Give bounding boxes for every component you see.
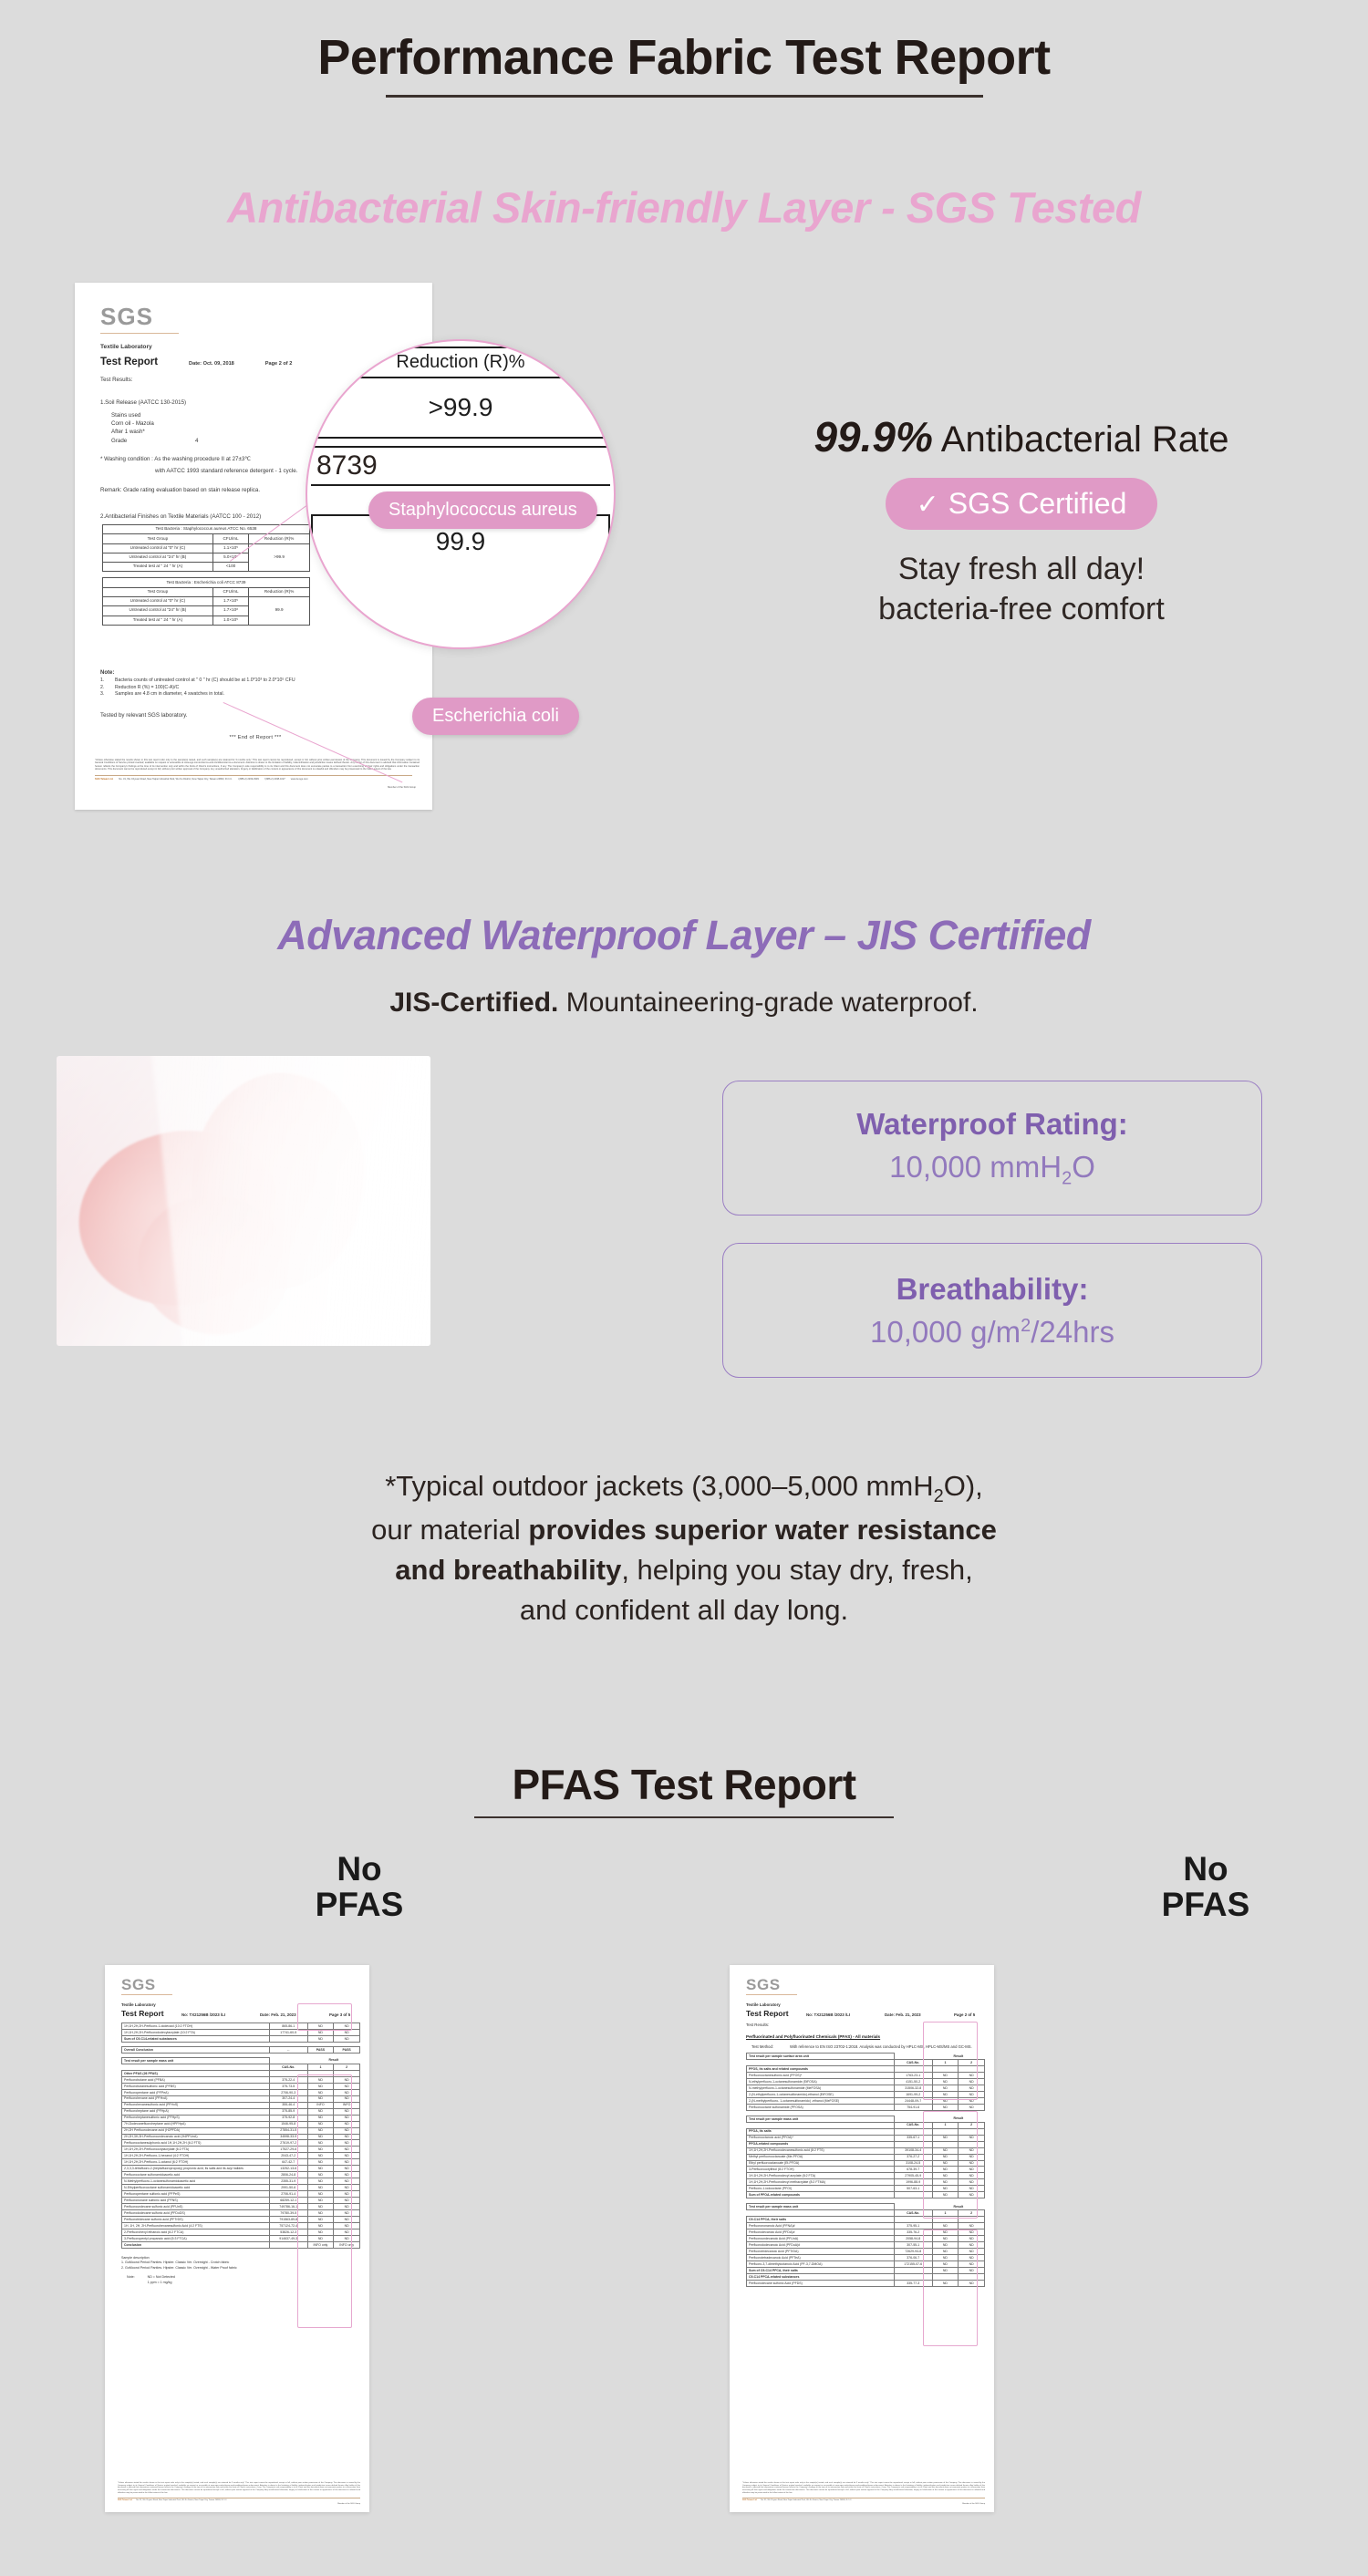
result-sample-1: ND xyxy=(307,2191,334,2198)
breathability-value-suffix: /24hrs xyxy=(1031,1315,1114,1349)
pfas-left-overall-r2: PASS xyxy=(334,2046,360,2053)
result-sample-1: ND xyxy=(307,2140,334,2147)
result-sample-1: ND xyxy=(307,2159,334,2166)
antibacterial-tagline-line1: Stay fresh all day! xyxy=(748,550,1295,590)
result-sample-1: INFO xyxy=(307,2102,334,2108)
pfas-right-group5-label: C9-C14 PFCA-related substances xyxy=(747,2273,895,2280)
sgs-certified-badge: ✓SGS Certified xyxy=(886,478,1158,530)
waterproof-subheading-bold: JIS-Certified. xyxy=(389,988,558,1018)
result-sample-2: ND xyxy=(959,2160,985,2167)
cas-number: 2043-47-2 xyxy=(269,2153,307,2159)
waterproof-note-line1-b: O), xyxy=(944,1470,983,1502)
table-row: Perfluorononanoic Acid (PFNA)#375-95-1ND… xyxy=(747,2223,985,2229)
pfas-left-lab: Textile Laboratory xyxy=(121,2002,357,2007)
table-row: 2H,2H,3H,3H-Perfluoroundecanoic acid (H4… xyxy=(122,2134,360,2140)
table-row: Perfluorodecane sulfonic Acid (PFDS)335-… xyxy=(747,2280,985,2286)
result-sample-1: ND xyxy=(307,2236,334,2242)
cas-number: 17741-60-5 xyxy=(269,2029,307,2035)
substance-name: Perfluoro-3,7-dimethyloctanoic Acid (PF-… xyxy=(747,2261,895,2268)
pfas-left-main-table: Test result per sample mass unit Result … xyxy=(121,2057,360,2249)
result-sample-2: ND xyxy=(334,2204,360,2210)
cas-number: 27905-45-9 xyxy=(894,2173,932,2179)
cas-number: 39108-34-4 xyxy=(894,2147,932,2154)
pfas-right-fine-print: "Unless otherwise stated the results sho… xyxy=(742,2482,985,2495)
cas-number: 3108-24-5 xyxy=(894,2160,932,2167)
result-sample-1: ND xyxy=(932,2154,959,2160)
table-row: Perfluoro-1-iodooctane (PFOI)507-63-1NDN… xyxy=(747,2186,985,2192)
pfas-left-sample-block: Sample description 1. GoMoond Period Pan… xyxy=(121,2256,360,2285)
pfas-heading-underline xyxy=(474,1816,894,1818)
result-sample-1: ND xyxy=(307,2172,334,2178)
result-sample-2: ND xyxy=(959,2135,985,2141)
cas-number: 375-73-5 xyxy=(269,2083,307,2089)
substance-name: Perfluorohexanesulfonic acid (PFHxS) xyxy=(122,2102,270,2108)
substance-name: Perfluoroundecanoic Acid (PFUnA) xyxy=(747,2236,895,2242)
table-row: N-methylperfluoro-1-octanesulfonamide (M… xyxy=(747,2085,985,2091)
result-sample-2: ND xyxy=(959,2072,985,2078)
pfas-left-footer-rule xyxy=(118,2498,360,2498)
result-sample-2: ND xyxy=(334,2035,360,2042)
result-sample-1: ND xyxy=(932,2147,959,2154)
cas-number: 791563-89-8 xyxy=(269,2217,307,2223)
cas-number: 307-24-4 xyxy=(269,2095,307,2102)
pfas-right-results-label: Test Results: xyxy=(746,2023,981,2027)
substance-name: N-Methylperfluoro-1-octanesulfonamidoace… xyxy=(122,2178,270,2185)
certificate-note-text: Reduction R (%) = 100(C-A)/C xyxy=(115,685,179,692)
substance-name: 1H,1H,2H,2H-Perfluoro-1-dodecaol (10:2 F… xyxy=(122,2023,270,2030)
ecoli-table-caption: Test Bacteria : Escherichia coli ATCC 87… xyxy=(103,578,310,587)
result-sample-2: ND xyxy=(959,2186,985,2192)
certificate-footer: SGS Taiwan Ltd. No. 31, Wu Chyuan Road, … xyxy=(75,778,432,781)
pfas-right-logo: SGS xyxy=(730,1965,994,1994)
cas-number: 749786-16-1 xyxy=(269,2204,307,2210)
pill-escherichia-coli: Escherichia coli xyxy=(412,698,579,735)
table-row: 1H,1H,2H,2H-Perfluoro-1-octanol (6:2 FTO… xyxy=(122,2159,360,2166)
substance-name: 1H,1H,2H,2H-Perfluorodecyl acrylate (8:2… xyxy=(747,2173,895,2179)
result-sample-2: ND xyxy=(959,2229,985,2236)
cas-number: 68259-12-1 xyxy=(269,2198,307,2204)
result-sample-2: ND xyxy=(959,2154,985,2160)
result-sample-2: ND xyxy=(959,2261,985,2268)
cas-number: 335-77-3 xyxy=(894,2280,932,2286)
result-sample-1: ND xyxy=(932,2135,959,2141)
cas-number: 507-63-1 xyxy=(894,2186,932,2192)
waterproof-section-heading: Advanced Waterproof Layer – JIS Certifie… xyxy=(0,912,1368,959)
result-sample-2: ND xyxy=(959,2078,985,2085)
result-sample-1: ND xyxy=(932,2268,959,2274)
waterproof-note-line2: our material provides superior water res… xyxy=(137,1510,1231,1550)
pfas-left-overall-r1: PASS xyxy=(307,2046,334,2053)
substance-name: Perfluoroundecane sulfonic acid (PFUnS) xyxy=(122,2204,270,2210)
pfas-right-mass-label-2: Test result per sample mass unit xyxy=(747,2204,895,2210)
result-sample-1: ND xyxy=(307,2023,334,2030)
substance-name: Sum of PFOA-related compounds xyxy=(747,2192,895,2198)
result-sample-2: ND xyxy=(959,2242,985,2249)
cas-number: 53826-12-3 xyxy=(269,2229,307,2236)
pfas-right-c9c14-table: Test result per sample mass unit Result … xyxy=(746,2203,985,2287)
certificate-page: Page 2 of 2 xyxy=(265,360,293,367)
result-sample-2: ND xyxy=(334,2121,360,2127)
substance-name: Perfluorotridecane sulfonic acid (PFTrDS… xyxy=(122,2217,270,2223)
staph-results-table: Test Bacteria : Staphylococcus aureus AT… xyxy=(102,524,310,572)
substance-name: 1H,1H,2H,2H-Perfluoro-1-hexanol (4:2 FTO… xyxy=(122,2153,270,2159)
substance-name: Perfluorotetradecanoic Acid (PFTeA) xyxy=(747,2255,895,2261)
substance-name: 2,3,3,3-tetrafluoro-2-(heptafluoropropox… xyxy=(122,2166,270,2172)
antibacterial-tagline-line2: bacteria-free comfort xyxy=(748,590,1295,630)
staph-header-1: CFU/mL xyxy=(212,534,248,543)
table-row: 2-(N-ethylperfluoro-1-octanesulfonamido)… xyxy=(747,2091,985,2097)
page-title-wrap: Performance Fabric Test Report xyxy=(0,29,1368,98)
pfas-left-top-table: 1H,1H,2H,2H-Perfluoro-1-dodecaol (10:2 F… xyxy=(121,2023,360,2043)
result-sample-2: ND xyxy=(334,2147,360,2153)
pfas-left-other-pfas-label: Other PFAS (26 PFAS) xyxy=(122,2070,270,2076)
pfas-right-col1-a: 1 xyxy=(932,2059,959,2065)
table-row: 1H,1H,2H,2H-Perfluorodecanesulfonic acid… xyxy=(747,2147,985,2154)
pfas-left-note-label: Note: xyxy=(127,2275,135,2285)
waterproof-note-line2-bold: provides superior water resistance xyxy=(528,1514,996,1546)
waterproof-demo-photo xyxy=(57,1056,430,1346)
table-row: 1H,1H,2H,2H-Perfluoro-1-dodecaol (10:2 F… xyxy=(122,2023,360,2030)
result-sample-1: ND xyxy=(307,2147,334,2153)
pfas-left-col2: 2 xyxy=(334,2064,360,2070)
cas-number: 914637-49-3 xyxy=(269,2236,307,2242)
substance-name: 2H,2H,3H,3H-Perfluoroundecanoic acid (H4… xyxy=(122,2134,270,2140)
result-sample-2: ND xyxy=(334,2083,360,2089)
pfas-report-right: SGS Textile Laboratory Test Report No: T… xyxy=(730,1965,994,2512)
table-row: Perfluorooctanoic acid (PFOA)*335-67-1ND… xyxy=(747,2135,985,2141)
result-sample-1: ND xyxy=(932,2186,959,2192)
pfas-left-mass-unit-label: Test result per sample mass unit xyxy=(122,2057,270,2064)
substance-name: 1H,1H,2H,2H-Perfluorodecanesulfonic acid… xyxy=(747,2147,895,2154)
result-sample-1: ND xyxy=(307,2035,334,2042)
cas-number xyxy=(894,2268,932,2274)
breathability-value: 10,000 g/m2/24hrs xyxy=(723,1315,1261,1350)
result-sample-2: ND xyxy=(334,2140,360,2147)
result-sample-2: ND xyxy=(334,2217,360,2223)
pfas-right-page: Page 2 of 5 xyxy=(954,2012,975,2017)
result-sample-2: ND xyxy=(334,2089,360,2095)
waterproof-note-line3: and breathability, helping you stay dry,… xyxy=(137,1550,1231,1590)
pfas-right-mass-label: Test result per sample mass unit xyxy=(747,2116,895,2122)
table-row: N-Ethylperfluorooctane sulfonamidoacetic… xyxy=(122,2185,360,2191)
check-icon: ✓ xyxy=(917,490,939,520)
cas-number: 79780-39-5 xyxy=(269,2210,307,2217)
cas-number: 2355-31-9 xyxy=(269,2178,307,2185)
ecoli-row0-name: Untreated control at "0" hr (C) xyxy=(103,596,213,605)
result-sample-1: ND xyxy=(307,2198,334,2204)
ecoli-header-2: Reduction (R)% xyxy=(249,587,310,596)
table-row: 1H,1H,2H,2H-Perfluorodecyl acrylate (8:2… xyxy=(747,2173,985,2179)
breathability-card: Breathability: 10,000 g/m2/24hrs xyxy=(722,1243,1262,1378)
cas-number: 376-06-7 xyxy=(894,2255,932,2261)
pfas-right-mass-table: Test result per sample mass unit Result … xyxy=(746,2116,985,2199)
table-row: Perfluorooctane sulfonamidoacetic acid28… xyxy=(122,2172,360,2178)
pfas-right-result-label-2: Result xyxy=(932,2116,984,2122)
certificate-footer-member: Member of the SGS Group xyxy=(75,786,432,789)
waterproof-film-sheet xyxy=(151,1056,430,1346)
substance-name: 2-(N-methylperfluoro- 1-octanesulfonamid… xyxy=(747,2097,895,2104)
result-sample-2: ND xyxy=(959,2085,985,2091)
result-sample-2: ND xyxy=(334,2153,360,2159)
result-sample-2: ND xyxy=(334,2198,360,2204)
pfas-right-title: Perfluorinated and Polyfluorinated Chemi… xyxy=(746,2034,981,2039)
cas-number: 376-27-2 xyxy=(894,2154,932,2160)
antibacterial-rate-number: 99.9% xyxy=(814,413,932,460)
no-pfas-right-line2: PFAS xyxy=(1151,1887,1260,1922)
pfas-right-result-label-3: Result xyxy=(932,2204,984,2210)
pfas-right-footer-member: Member of the SGS Group xyxy=(742,2503,985,2505)
result-sample-2: ND xyxy=(334,2178,360,2185)
ecoli-row0-cfu: 1.7×10⁵ xyxy=(212,596,248,605)
table-row: Perfluoroundecanoic Acid (PFUnA)2058-94-… xyxy=(747,2236,985,2242)
cas-number: 678-39-7 xyxy=(894,2167,932,2173)
breathability-value-prefix: 10,000 g/m xyxy=(870,1315,1021,1349)
ecoli-row1-name: Untreated control at "24" hr (B) xyxy=(103,606,213,616)
result-sample-2: ND xyxy=(959,2167,985,2173)
table-row: 1H,1H,2H,2H-Perfluorooctylacrylate (6:2 … xyxy=(122,2147,360,2153)
table-row: 3-Perfluorooctylthiol (8:2 FTOH)678-39-7… xyxy=(747,2167,985,2173)
waterproof-note: *Typical outdoor jackets (3,000–5,000 mm… xyxy=(137,1466,1231,1630)
pfas-left-page: Page 3 of 5 xyxy=(329,2012,350,2017)
result-sample-2: ND xyxy=(959,2179,985,2186)
result-sample-2: ND xyxy=(959,2268,985,2274)
result-sample-1: ND xyxy=(932,2179,959,2186)
cas-number: 754-91-6 xyxy=(894,2104,932,2110)
antibacterial-section-heading: Antibacterial Skin-friendly Layer - SGS … xyxy=(0,182,1368,233)
result-sample-2: ND xyxy=(334,2076,360,2083)
result-sample-2: ND xyxy=(334,2134,360,2140)
pfas-heading-wrap: PFAS Test Report xyxy=(0,1760,1368,1818)
pfas-right-col2-c: 2 xyxy=(959,2210,985,2217)
sgs-certified-label: SGS Certified xyxy=(948,487,1127,520)
table-row: Perfluorododecanoic Acid (PFDoA)#307-55-… xyxy=(747,2242,985,2249)
pill-staphylococcus-aureus: Staphylococcus aureus xyxy=(368,491,597,529)
no-pfas-badge-left: No PFAS xyxy=(305,1851,414,1922)
table-row: Sum of C9-C14-related substancesNDND xyxy=(122,2035,360,2042)
substance-name: N-methylperfluoro-1-octanesulfonamide (M… xyxy=(747,2085,895,2091)
certificate-footer-web: www.tw.sgs.com xyxy=(291,778,308,781)
substance-name: Perfluorooctane sulfonamidoacetic acid xyxy=(122,2172,270,2178)
cas-number: 1691-99-2 xyxy=(894,2091,932,2097)
table-row: Sum of C9-C14 PFCA, their saltsNDND xyxy=(747,2268,985,2274)
table-row: Perfluorooctane sulfonamide (PFOSA)754-9… xyxy=(747,2104,985,2110)
table-row: Perfluorohexanesulfonic acid (PFHxS)355-… xyxy=(122,2102,360,2108)
waterproof-note-line3-bold: and breathability xyxy=(395,1554,621,1586)
ecoli-results-table: Test Bacteria : Escherichia coli ATCC 87… xyxy=(102,577,310,625)
result-sample-2: ND xyxy=(334,2166,360,2172)
staph-row2-cfu: <100 xyxy=(212,563,248,572)
result-sample-1: ND xyxy=(932,2280,959,2286)
certificate-note-item: 1.Bacteria counts of untreated control a… xyxy=(100,678,410,685)
table-row: 2,3,3,3-tetrafluoro-2-(heptafluoropropox… xyxy=(122,2166,360,2172)
substance-name: 1H,1H,2H,2H-Perfluoro-1-octanol (6:2 FTO… xyxy=(122,2159,270,2166)
waterproof-note-line3-rest: , helping you stay dry, fresh, xyxy=(621,1554,972,1586)
substance-name: 2-(N-ethylperfluoro-1-octanesulfonamido)… xyxy=(747,2091,895,2097)
substance-name: Perfluorononane sulfonic acid (PFNS) xyxy=(122,2198,270,2204)
cas-number: 757124-72-4 xyxy=(269,2223,307,2229)
table-row: Perfluorotridecane sulfonic acid (PFTrDS… xyxy=(122,2217,360,2223)
ecoli-row2-name: Treated test at " 24 " hr (A) xyxy=(103,616,213,625)
result-sample-1: ND xyxy=(307,2076,334,2083)
pfas-report-left: SGS Textile Laboratory Test Report No: T… xyxy=(105,1965,369,2512)
result-sample-1: ND xyxy=(307,2185,334,2191)
substance-name: 3-Perfluoropentyl propanoic acid (5:3 FT… xyxy=(122,2236,270,2242)
table-row: N-Methylperfluoro-1-octanesulfonamidoace… xyxy=(122,2178,360,2185)
result-sample-1: ND xyxy=(932,2173,959,2179)
pfas-left-note-ppm: 1 ppm = 1 mg/kg xyxy=(148,2281,175,2285)
result-sample-2: ND xyxy=(959,2097,985,2104)
ecoli-row1-cfu: 1.7×10⁸ xyxy=(212,606,248,616)
table-row: N-ethylperfluoro-1-octanesulfonamide (Et… xyxy=(747,2078,985,2085)
substance-name: Ethyl perfluorooctanoate (Et-PFOA) xyxy=(747,2160,895,2167)
cas-number: 31506-32-8 xyxy=(894,2085,932,2091)
substance-name: 2H,2H Perfluorodecane acid (H2PFDA) xyxy=(122,2127,270,2134)
substance-name: Perfluorobutanesulfonic acid (PFBS) xyxy=(122,2083,270,2089)
table-row: Perfluoropentane acid (PFPeA)2706-90-3ND… xyxy=(122,2089,360,2095)
table-row: ConclusionINFO onlyINFO only xyxy=(122,2241,360,2248)
table-row: Perfluorononane sulfonic acid (PFNS)6825… xyxy=(122,2198,360,2204)
result-sample-1: ND xyxy=(932,2097,959,2104)
cas-number: 307-55-1 xyxy=(894,2242,932,2249)
ecoli-header-1: CFU/mL xyxy=(212,587,248,596)
table-row: Perfluorodecanoic Acid (PFDA)#335-76-2ND… xyxy=(747,2229,985,2236)
cas-number: 865-86-1 xyxy=(269,2023,307,2030)
pfas-right-group3-label: PFOA-related compounds xyxy=(747,2141,895,2147)
cas-number: 1763-23-1 xyxy=(894,2072,932,2078)
breathability-value-sup: 2 xyxy=(1021,1316,1031,1336)
result-sample-2: ND xyxy=(334,2210,360,2217)
result-sample-2: ND xyxy=(334,2127,360,2134)
certificate-footer-tel: t (886-2) 2299-3939 xyxy=(238,778,259,781)
result-sample-1: ND xyxy=(932,2160,959,2167)
result-sample-2: ND xyxy=(334,2108,360,2115)
pfas-right-col1-b: 1 xyxy=(932,2122,959,2128)
pfas-left-footer-company: SGS Taiwan Ltd. xyxy=(118,2499,132,2501)
result-sample-2: ND xyxy=(334,2229,360,2236)
result-sample-2: ND xyxy=(334,2115,360,2121)
cas-number: 13252-13-6 xyxy=(269,2166,307,2172)
substance-name: Perfluorohexane acid (PFHxA) xyxy=(122,2095,270,2102)
table-row: Perfluoropentane sulfonic acid (PFPeS)27… xyxy=(122,2191,360,2198)
cas-number: 375-85-9 xyxy=(269,2108,307,2115)
cas-number: 375-92-8 xyxy=(269,2115,307,2121)
staph-header-0: Test Group xyxy=(103,534,213,543)
ecoli-reduction-value: 99.9 xyxy=(249,596,310,625)
result-sample-1: ND xyxy=(307,2178,334,2185)
pfas-right-footer-address: No. 31, Wu Chyuan Road, New Taipei Indus… xyxy=(761,2499,852,2501)
pfas-left-note-nd: ND = Not Detected xyxy=(148,2275,175,2280)
cas-number: 2991-50-6 xyxy=(269,2185,307,2191)
pfas-left-cas-label: CAS-No. xyxy=(269,2064,307,2070)
pfas-right-doc-type: Test Report xyxy=(746,2009,806,2018)
result-sample-2: ND xyxy=(959,2192,985,2198)
result-sample-2: ND xyxy=(334,2023,360,2030)
result-sample-1: ND xyxy=(932,2167,959,2173)
waterproof-note-line2-a: our material xyxy=(371,1514,528,1546)
result-sample-2: ND xyxy=(959,2223,985,2229)
pfas-right-col1-c: 1 xyxy=(932,2210,959,2217)
table-row: 2-Perfluorohexyl ethanoic acid (6:2 FTCA… xyxy=(122,2229,360,2236)
result-sample-2: ND xyxy=(959,2147,985,2154)
result-sample-1: ND xyxy=(307,2223,334,2229)
sgs-logo: SGS xyxy=(75,283,432,333)
magnifier-reduction-value-1: >99.9 xyxy=(311,378,610,439)
no-pfas-right-line1: No xyxy=(1151,1851,1260,1887)
certificate-fine-print: "Unless otherwise stated the results sho… xyxy=(75,759,432,771)
cas-number: 24448-09-7 xyxy=(894,2097,932,2104)
result-sample-1: ND xyxy=(307,2210,334,2217)
pfas-right-cas-label-1: CAS-No. xyxy=(894,2059,932,2065)
pfas-left-fine-print: "Unless otherwise stated the results sho… xyxy=(118,2482,360,2495)
waterproof-rating-value-suffix: O xyxy=(1072,1150,1095,1184)
cas-number: 375-22-4 xyxy=(269,2076,307,2083)
substance-name: 1H,1H,2H,2H-Perfluorodecyl methacrylate … xyxy=(747,2179,895,2186)
certificate-note-item: 3.Samples are 4.8 cm in diameter, 4 swat… xyxy=(100,691,410,698)
cas-number: 4151-50-2 xyxy=(894,2078,932,2085)
certificate-footer-company: SGS Taiwan Ltd. xyxy=(95,778,113,781)
table-row: Ethyl perfluorooctanoate (Et-PFOA)3108-2… xyxy=(747,2160,985,2167)
substance-name: Conclusion xyxy=(122,2241,270,2248)
no-pfas-left-line1: No xyxy=(305,1851,414,1887)
table-row: Perfluoroheptane acid (PFHpA)375-85-9NDN… xyxy=(122,2108,360,2115)
cas-number: 172155-07-6 xyxy=(894,2261,932,2268)
result-sample-1: ND xyxy=(932,2236,959,2242)
substance-name: Perfluorooctane sulfonamide (PFOSA) xyxy=(747,2104,895,2110)
cas-number: 27619-97-2 xyxy=(269,2140,307,2147)
pfas-right-surface-table: Test result per sample surface area unit… xyxy=(746,2053,985,2111)
substance-name: 1H,1H,2H,2H-Perfluorooctylacrylate (6:2 … xyxy=(122,2147,270,2153)
table-row: Perfluorododecane sulfonic acid (PFDoDS)… xyxy=(122,2210,360,2217)
table-row: Methyl perfluorooctanoate (Me-PFOA)376-2… xyxy=(747,2154,985,2160)
certificate-end-of-report: *** End of Report *** xyxy=(100,734,410,741)
result-sample-1: ND xyxy=(307,2108,334,2115)
result-sample-1: ND xyxy=(307,2089,334,2095)
result-sample-1: ND xyxy=(307,2121,334,2127)
table-row: 2-(N-methylperfluoro- 1-octanesulfonamid… xyxy=(747,2097,985,2104)
result-sample-2: ND xyxy=(959,2091,985,2097)
pfas-left-col1: 1 xyxy=(307,2064,334,2070)
waterproof-rating-value-prefix: 10,000 mmH xyxy=(889,1150,1062,1184)
substance-name: Sum of C9-C14 PFCA, their salts xyxy=(747,2268,895,2274)
cas-number: 2706-91-4 xyxy=(269,2191,307,2198)
pfas-right-footer-rule xyxy=(742,2498,985,2498)
waterproof-subheading-rest: Mountaineering-grade waterproof. xyxy=(558,988,978,1018)
waterproof-note-line4: and confident all day long. xyxy=(137,1590,1231,1630)
result-sample-2: ND xyxy=(334,2236,360,2242)
table-row: Sum of PFOA-related compoundsNDND xyxy=(747,2192,985,2198)
table-row: 3-Perfluoropentyl propanoic acid (5:3 FT… xyxy=(122,2236,360,2242)
result-sample-1: ND xyxy=(307,2204,334,2210)
certificate-note-item: 2.Reduction R (%) = 100(C-A)/C xyxy=(100,685,410,692)
breathability-title: Breathability: xyxy=(723,1272,1261,1307)
waterproof-rating-value: 10,000 mmH2O xyxy=(723,1150,1261,1190)
result-sample-2: ND xyxy=(334,2029,360,2035)
table-row: 1H, 1H, 2H, 2H-Perfluorohexanesulfonic A… xyxy=(122,2223,360,2229)
substance-name: Perfluorooctanesulphonic acid 1H,1H,2H,2… xyxy=(122,2140,270,2147)
cas-number: 34598-33-9 xyxy=(269,2134,307,2140)
result-sample-1: ND xyxy=(932,2255,959,2261)
result-sample-2: ND xyxy=(959,2104,985,2110)
result-sample-1: ND xyxy=(932,2078,959,2085)
result-sample-2: ND xyxy=(334,2172,360,2178)
result-sample-2: ND xyxy=(334,2095,360,2102)
table-row: 1H,1H,2H,2H-Perfluoro-1-hexanol (4:2 FTO… xyxy=(122,2153,360,2159)
pfas-left-logo: SGS xyxy=(105,1965,369,1994)
result-sample-1: ND xyxy=(307,2153,334,2159)
result-sample-2: ND xyxy=(334,2159,360,2166)
substance-name: 2-Perfluorohexyl ethanoic acid (6:2 FTCA… xyxy=(122,2229,270,2236)
pfas-left-no: No: TX21256B /2023 /LI xyxy=(181,2012,260,2017)
